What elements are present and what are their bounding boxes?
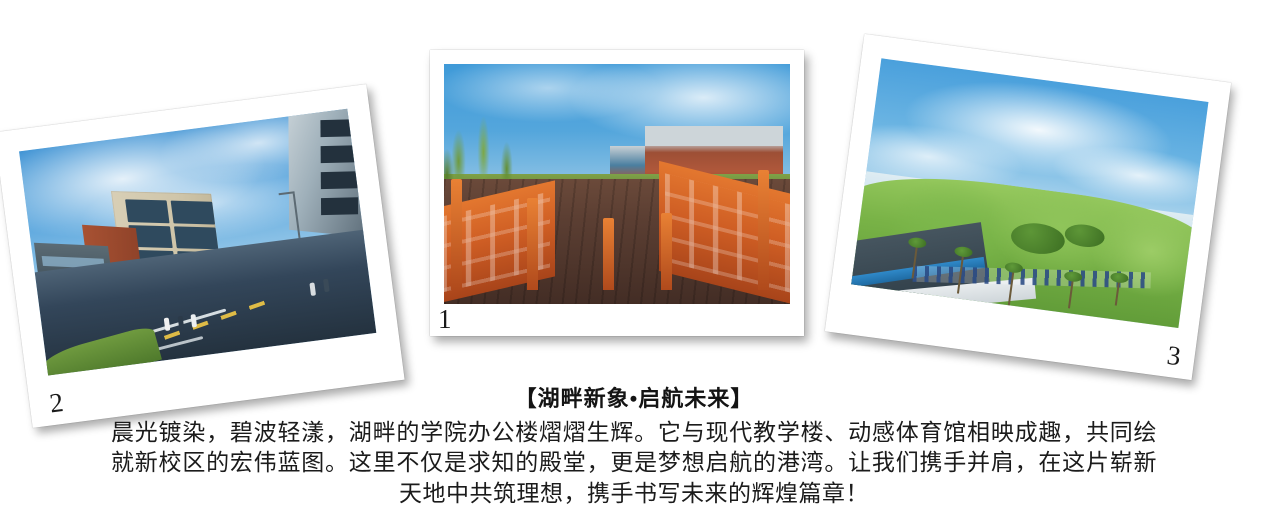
railing-post [758, 170, 769, 290]
photo-card-3[interactable]: 3 [825, 34, 1231, 380]
railing-post [661, 213, 672, 290]
railing-post [527, 198, 538, 289]
caption-title: 【湖畔新象•启航未来】 [0, 384, 1268, 414]
railing-lattice [664, 174, 790, 296]
building-roofline [645, 126, 783, 145]
caption-block: 【湖畔新象•启航未来】 晨光镀染，碧波轻漾，湖畔的学院办公楼熠熠生辉。它与现代教… [0, 384, 1268, 509]
collage-canvas: 2 1 [0, 0, 1268, 527]
photo-number-3: 3 [1165, 342, 1182, 371]
railing-post [603, 218, 614, 290]
caption-body: 晨光镀染，碧波轻漾，湖畔的学院办公楼熠熠生辉。它与现代教学楼、动感体育馆相映成趣… [111, 418, 1157, 510]
photo-image-3 [851, 58, 1208, 328]
railing-post [451, 179, 462, 289]
caption-body-text: 晨光镀染，碧波轻漾，湖畔的学院办公楼熠熠生辉。它与现代教学楼、动感体育馆相映成趣… [111, 418, 1157, 510]
photo-image-1 [444, 64, 790, 304]
photo-card-1[interactable]: 1 [430, 50, 804, 336]
photo-card-2[interactable]: 2 [0, 84, 405, 428]
photo-image-2 [19, 109, 376, 376]
photo-number-1: 1 [438, 306, 452, 333]
glass-tower [288, 109, 368, 238]
